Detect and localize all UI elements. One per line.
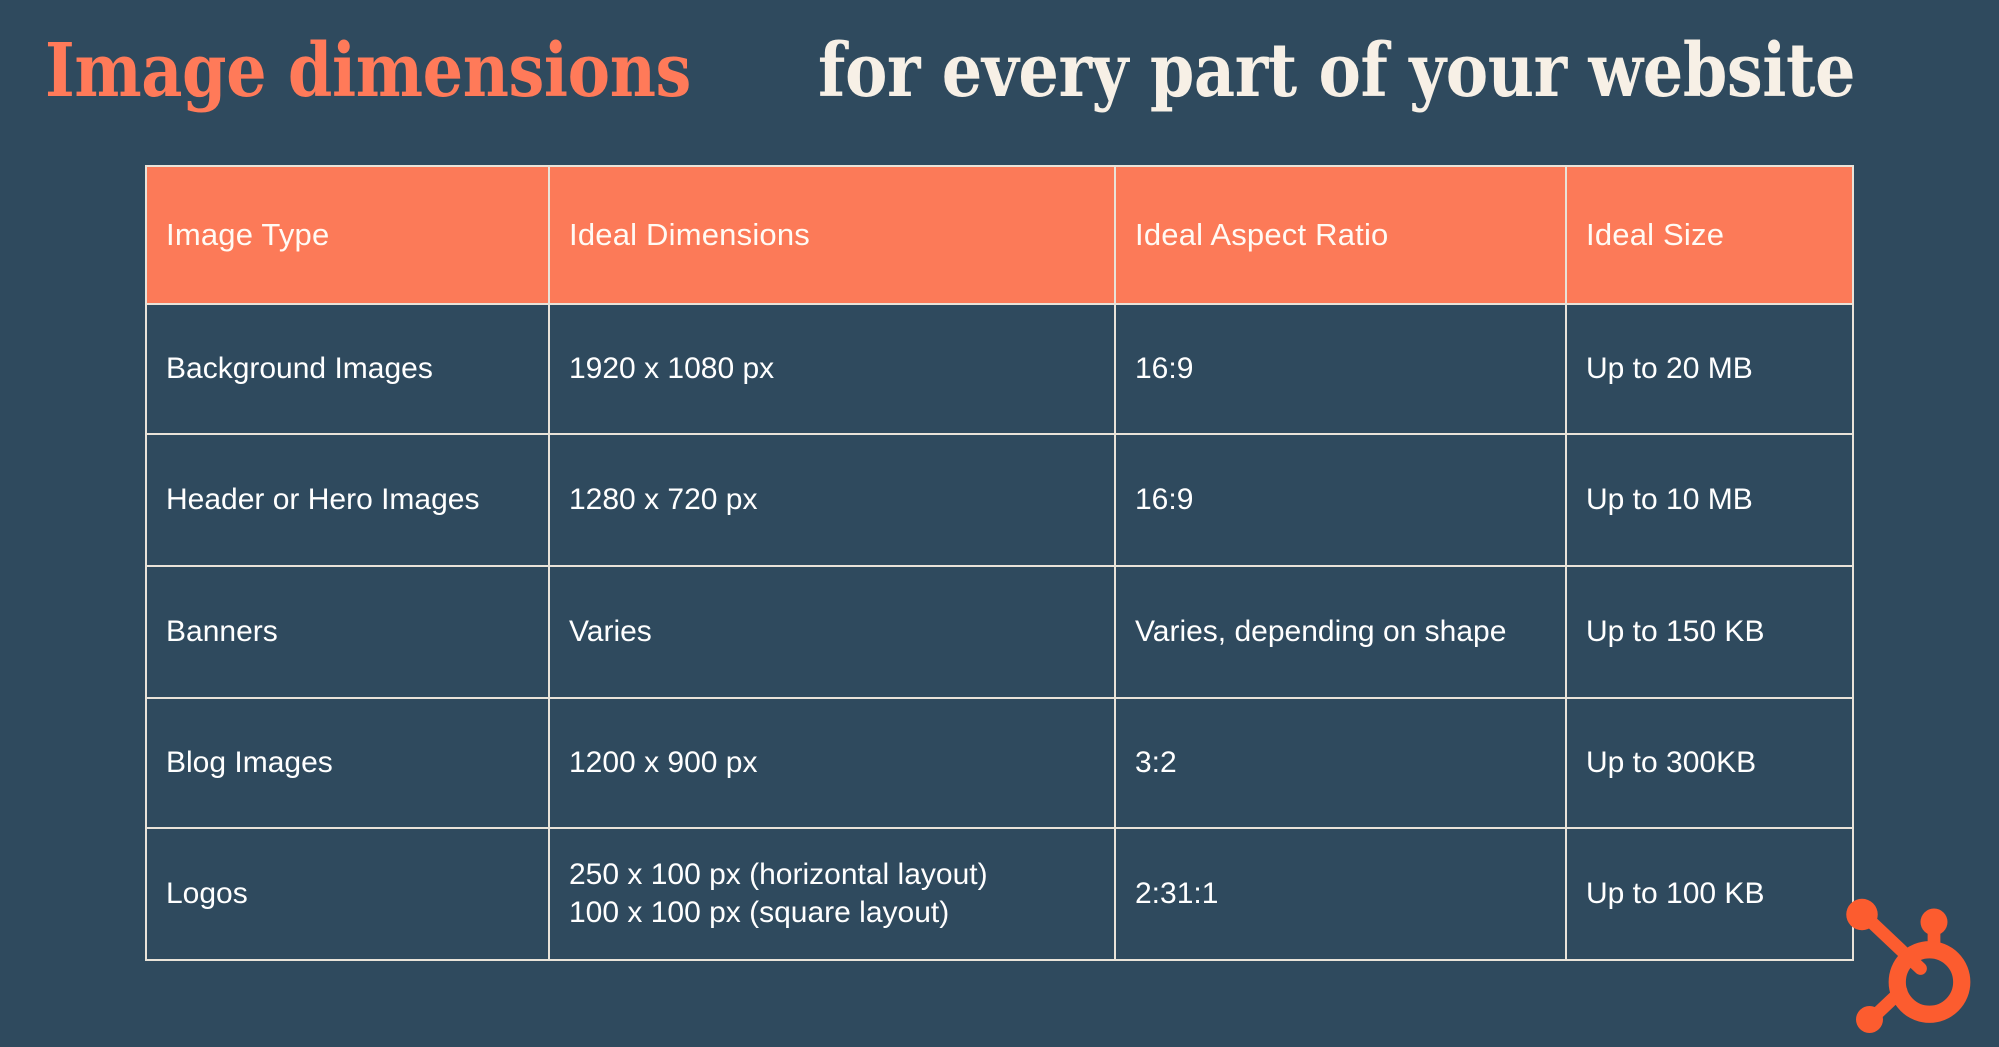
cell-image-type: Logos <box>146 828 549 960</box>
slide-canvas: Image dimensions for every part of your … <box>0 0 1999 1047</box>
cell-ideal-aspect-ratio: 16:9 <box>1115 434 1566 566</box>
page-title-rest: for every part of your website <box>818 34 1855 108</box>
page-title: Image dimensions for every part of your … <box>45 18 1965 123</box>
cell-image-type: Banners <box>146 566 549 698</box>
image-dimensions-table: Image Type Ideal Dimensions Ideal Aspect… <box>145 165 1854 961</box>
cell-ideal-size: Up to 10 MB <box>1566 434 1853 566</box>
table-row: Blog Images 1200 x 900 px 3:2 Up to 300K… <box>146 698 1853 828</box>
column-header-image-type: Image Type <box>146 166 549 304</box>
cell-image-type: Header or Hero Images <box>146 434 549 566</box>
table-row: Background Images 1920 x 1080 px 16:9 Up… <box>146 304 1853 434</box>
cell-image-type: Background Images <box>146 304 549 434</box>
cell-ideal-size: Up to 150 KB <box>1566 566 1853 698</box>
cell-line: 1200 x 900 px <box>569 744 1095 782</box>
cell-line: 100 x 100 px (square layout) <box>569 894 1095 932</box>
cell-line: 1920 x 1080 px <box>569 350 1095 388</box>
cell-ideal-dimensions: 250 x 100 px (horizontal layout) 100 x 1… <box>549 828 1115 960</box>
cell-ideal-dimensions: 1920 x 1080 px <box>549 304 1115 434</box>
column-header-ideal-aspect-ratio: Ideal Aspect Ratio <box>1115 166 1566 304</box>
column-header-ideal-size: Ideal Size <box>1566 166 1853 304</box>
cell-ideal-aspect-ratio: 3:2 <box>1115 698 1566 828</box>
cell-ideal-size: Up to 100 KB <box>1566 828 1853 960</box>
cell-ideal-aspect-ratio: 2:31:1 <box>1115 828 1566 960</box>
cell-ideal-aspect-ratio: Varies, depending on shape <box>1115 566 1566 698</box>
cell-ideal-size: Up to 20 MB <box>1566 304 1853 434</box>
cell-ideal-size: Up to 300KB <box>1566 698 1853 828</box>
hubspot-sprocket-logo <box>1835 889 1985 1039</box>
page-title-accent: Image dimensions <box>45 34 691 108</box>
cell-line: Varies <box>569 613 1095 651</box>
cell-image-type: Blog Images <box>146 698 549 828</box>
cell-ideal-dimensions: 1200 x 900 px <box>549 698 1115 828</box>
cell-line: 250 x 100 px (horizontal layout) <box>569 856 1095 894</box>
table-body: Background Images 1920 x 1080 px 16:9 Up… <box>146 304 1853 960</box>
table-row: Header or Hero Images 1280 x 720 px 16:9… <box>146 434 1853 566</box>
table-header-row: Image Type Ideal Dimensions Ideal Aspect… <box>146 166 1853 304</box>
cell-ideal-aspect-ratio: 16:9 <box>1115 304 1566 434</box>
table-header: Image Type Ideal Dimensions Ideal Aspect… <box>146 166 1853 304</box>
cell-ideal-dimensions: 1280 x 720 px <box>549 434 1115 566</box>
table-row: Banners Varies Varies, depending on shap… <box>146 566 1853 698</box>
table-row: Logos 250 x 100 px (horizontal layout) 1… <box>146 828 1853 960</box>
cell-ideal-dimensions: Varies <box>549 566 1115 698</box>
cell-line: 1280 x 720 px <box>569 481 1095 519</box>
column-header-ideal-dimensions: Ideal Dimensions <box>549 166 1115 304</box>
